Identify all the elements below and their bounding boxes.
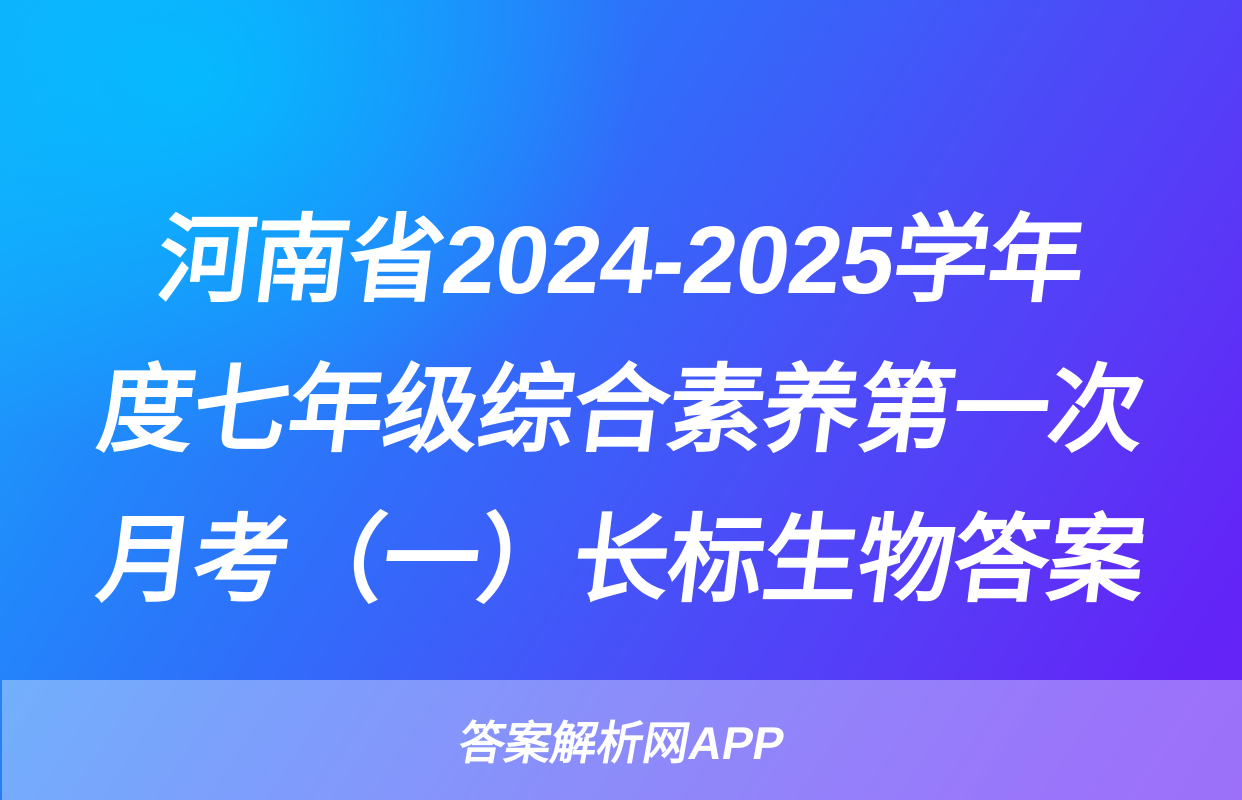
watermark-band: 答案解析网APP [2,680,1242,800]
page-title: 河南省2024-2025学年 度七年级综合素养第一次 月考（一）长标生物答案 [0,186,1242,636]
watermark-label: 答案解析网APP [454,707,790,773]
title-line-1: 河南省2024-2025学年 [55,186,1187,336]
poster-canvas: 河南省2024-2025学年 度七年级综合素养第一次 月考（一）长标生物答案 答… [0,0,1242,800]
title-line-3: 月考（一）长标生物答案 [55,486,1187,636]
title-line-2: 度七年级综合素养第一次 [55,336,1187,486]
